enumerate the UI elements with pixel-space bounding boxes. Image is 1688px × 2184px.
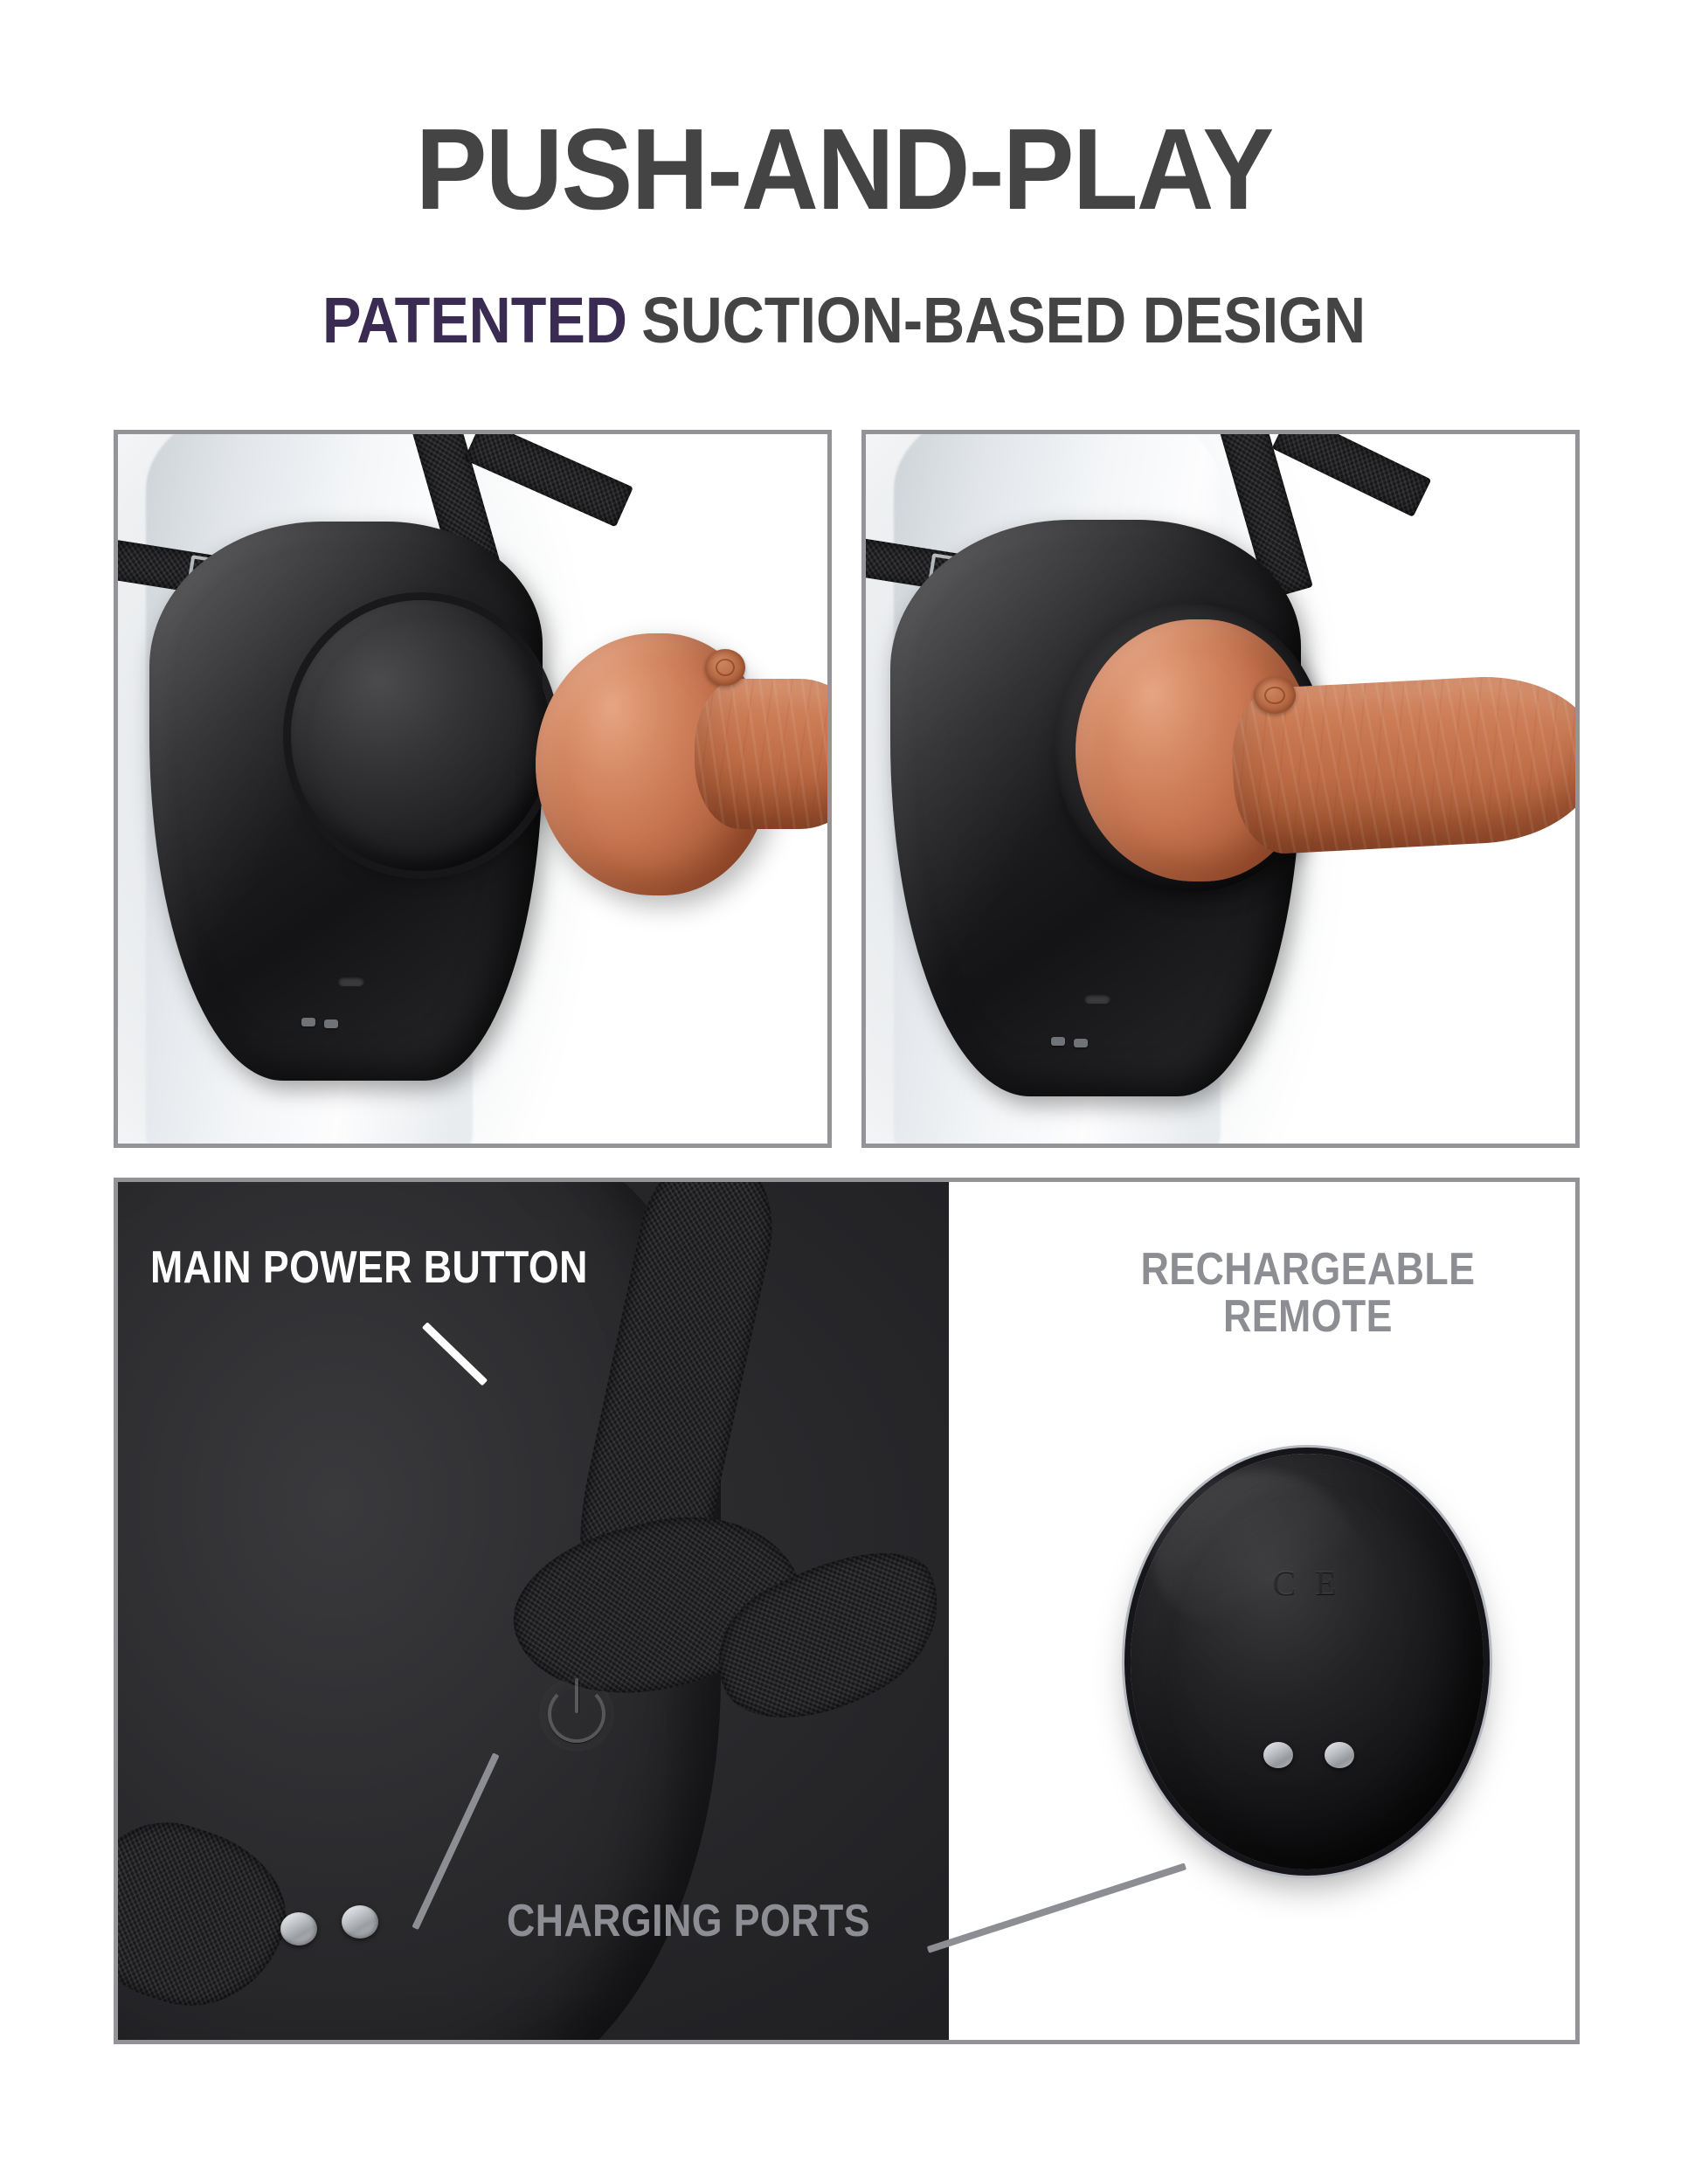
- charging-pin-icon: [342, 1905, 378, 1939]
- header: PUSH-AND-PLAY PATENTEDSUCTION-BASED DESI…: [0, 0, 1688, 402]
- suction-valve-icon: [705, 649, 745, 686]
- shaft-texture: [695, 679, 832, 829]
- remote-gloss-highlight: [1152, 1470, 1356, 1636]
- charging-pin-icon: [324, 1019, 338, 1028]
- charging-pin-icon: [301, 1018, 315, 1026]
- rechargeable-remote-device[interactable]: C E: [1131, 1454, 1484, 1870]
- charging-ports-label: CHARGING PORTS: [507, 1897, 870, 1945]
- power-symbol-icon: [539, 1676, 614, 1752]
- suction-valve-icon: [1254, 677, 1296, 714]
- attachment-shaft: [695, 679, 832, 829]
- harness-slot-icon: [1084, 993, 1110, 1004]
- page-subtitle: PATENTEDSUCTION-BASED DESIGN: [85, 288, 1604, 353]
- remote-charging-pin-icon: [1263, 1742, 1293, 1768]
- panel-harness-detached: [114, 430, 832, 1148]
- suction-plate: [291, 600, 551, 871]
- subtitle-highlight: PATENTED: [322, 284, 627, 356]
- remote-charging-pin-icon: [1325, 1742, 1354, 1768]
- page-title: PUSH-AND-PLAY: [59, 112, 1629, 227]
- main-power-button-label: MAIN POWER BUTTON: [150, 1244, 588, 1291]
- charging-pin-icon: [1074, 1039, 1088, 1047]
- charging-pin-icon: [1051, 1037, 1065, 1046]
- charging-pin-icon: [280, 1912, 317, 1946]
- subtitle-rest: SUCTION-BASED DESIGN: [641, 284, 1366, 356]
- ce-mark-icon: C E: [1272, 1562, 1341, 1603]
- rechargeable-remote-label: RECHARGEABLE REMOTE: [1131, 1246, 1484, 1340]
- harness-slot-icon: [338, 976, 364, 986]
- panel-harness-attached: [861, 430, 1580, 1148]
- power-bar: [575, 1678, 578, 1713]
